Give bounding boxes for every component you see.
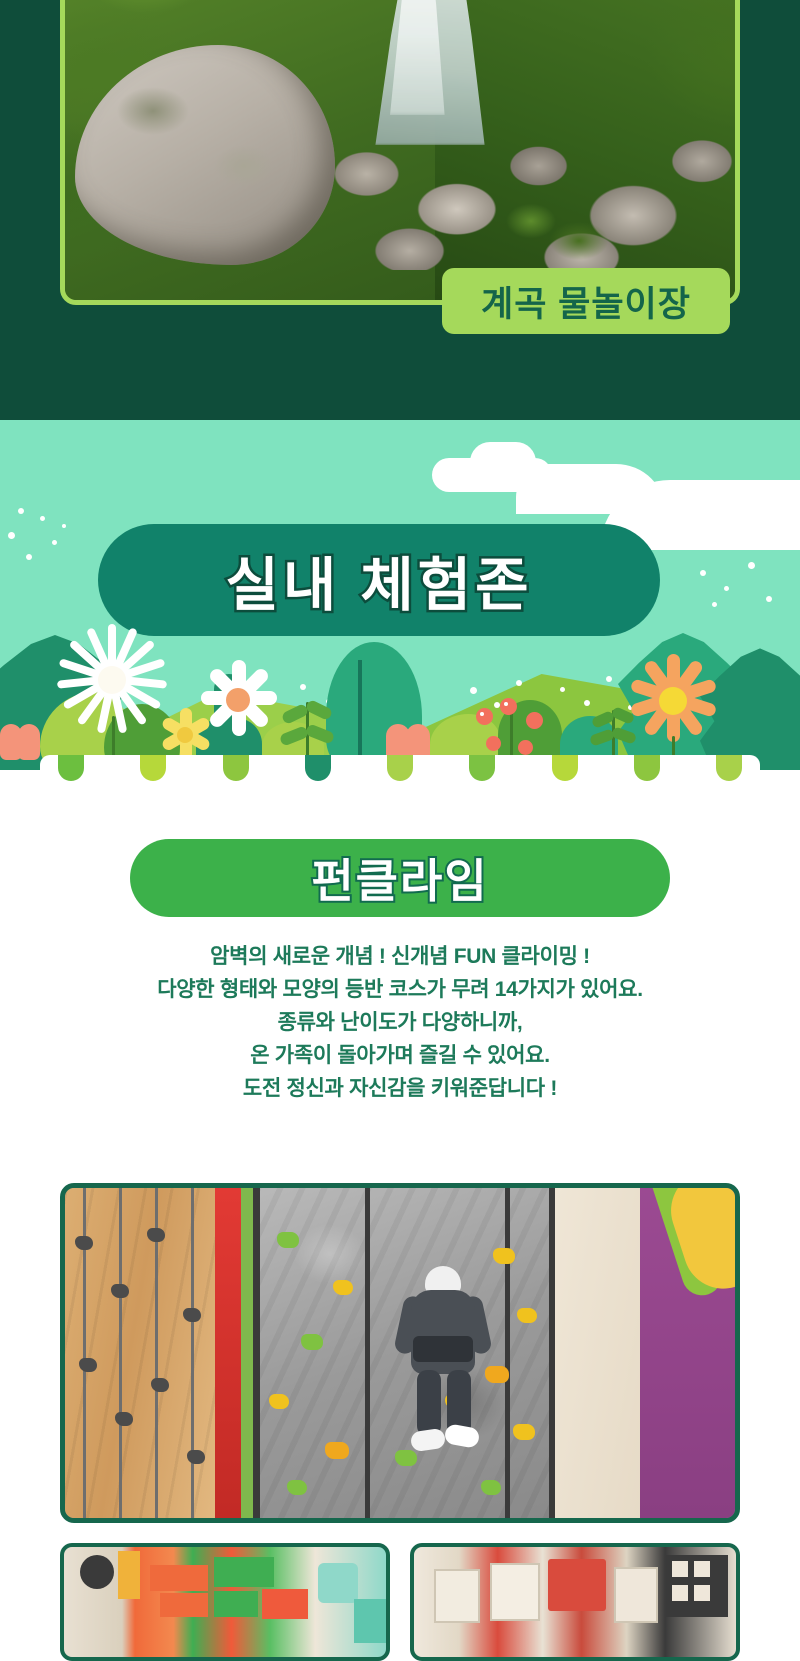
indoor-zone-label: 실내 체험존	[226, 538, 533, 622]
scallop-tab	[223, 755, 249, 781]
plant-illustration-band	[0, 630, 800, 770]
valley-badge: 계곡 물놀이장	[442, 268, 730, 334]
description-line: 암벽의 새로운 개념 ! 신개념 FUN 클라이밍 !	[40, 940, 760, 973]
indoor-zone-banner: 실내 체험존	[98, 524, 660, 636]
speck-dot	[62, 524, 66, 528]
thumbnail-photo	[60, 1543, 390, 1661]
funclimb-description: 암벽의 새로운 개념 ! 신개념 FUN 클라이밍 ! 다양한 형태와 모양의 …	[40, 940, 760, 1105]
speck-dot	[712, 602, 717, 607]
speck-dot	[18, 508, 24, 514]
speck-dot	[40, 516, 45, 521]
climbing-wall-photo	[60, 1183, 740, 1523]
scallop-tab	[305, 755, 331, 781]
waterfall-photo	[60, 0, 740, 305]
photo-thumbnail-row	[60, 1543, 740, 1661]
hill-speck	[516, 680, 522, 686]
shrub	[495, 185, 615, 275]
wood-climbing-panel	[65, 1188, 215, 1518]
description-line: 온 가족이 돌아가며 즐길 수 있어요.	[40, 1039, 760, 1072]
climber-person	[395, 1266, 491, 1456]
speck-dot	[8, 532, 15, 539]
card-scallop-tabs	[40, 755, 760, 781]
description-line: 다양한 형태와 모양의 등반 코스가 무려 14가지가 있어요.	[40, 973, 760, 1006]
peach-bud-icon	[0, 724, 42, 764]
speck-dot	[52, 540, 57, 545]
scallop-tab	[140, 755, 166, 781]
speck-dot	[766, 596, 772, 602]
valley-section: 계곡 물놀이장	[0, 0, 800, 420]
funclimb-badge-label: 펀클라임	[311, 845, 488, 911]
speck-dot	[748, 562, 755, 569]
wall-frame	[365, 1188, 370, 1518]
scallop-tab	[387, 755, 413, 781]
speck-dot	[700, 570, 706, 576]
red-wall-stripe	[215, 1188, 241, 1518]
scallop-tab	[469, 755, 495, 781]
hill-speck	[470, 687, 477, 694]
scallop-tab	[552, 755, 578, 781]
indoor-zone-section: 실내 체험존	[0, 420, 800, 770]
room-wall	[555, 1188, 645, 1518]
wall-frame	[505, 1188, 510, 1518]
speck-dot	[26, 554, 32, 560]
description-line: 종류와 난이도가 다양하니까,	[40, 1006, 760, 1039]
hill-speck	[560, 687, 565, 692]
funclimb-card: 펀클라임 암벽의 새로운 개념 ! 신개념 FUN 클라이밍 ! 다양한 형태와…	[40, 755, 760, 1661]
orange-daisy-icon	[626, 654, 720, 748]
funclimb-badge: 펀클라임	[130, 839, 670, 917]
description-line: 도전 정신과 자신감을 키워준답니다 !	[40, 1072, 760, 1105]
valley-badge-label: 계곡 물놀이장	[481, 276, 691, 327]
speck-dot	[724, 586, 729, 591]
hill-speck	[300, 684, 306, 690]
hill-speck	[606, 676, 612, 682]
thumbnail-photo	[410, 1543, 740, 1661]
scallop-tab	[58, 755, 84, 781]
scallop-tab	[634, 755, 660, 781]
scallop-tab	[716, 755, 742, 781]
leaf-vein	[358, 660, 362, 770]
climbing-harness	[413, 1336, 473, 1362]
wall-frame	[253, 1188, 260, 1518]
